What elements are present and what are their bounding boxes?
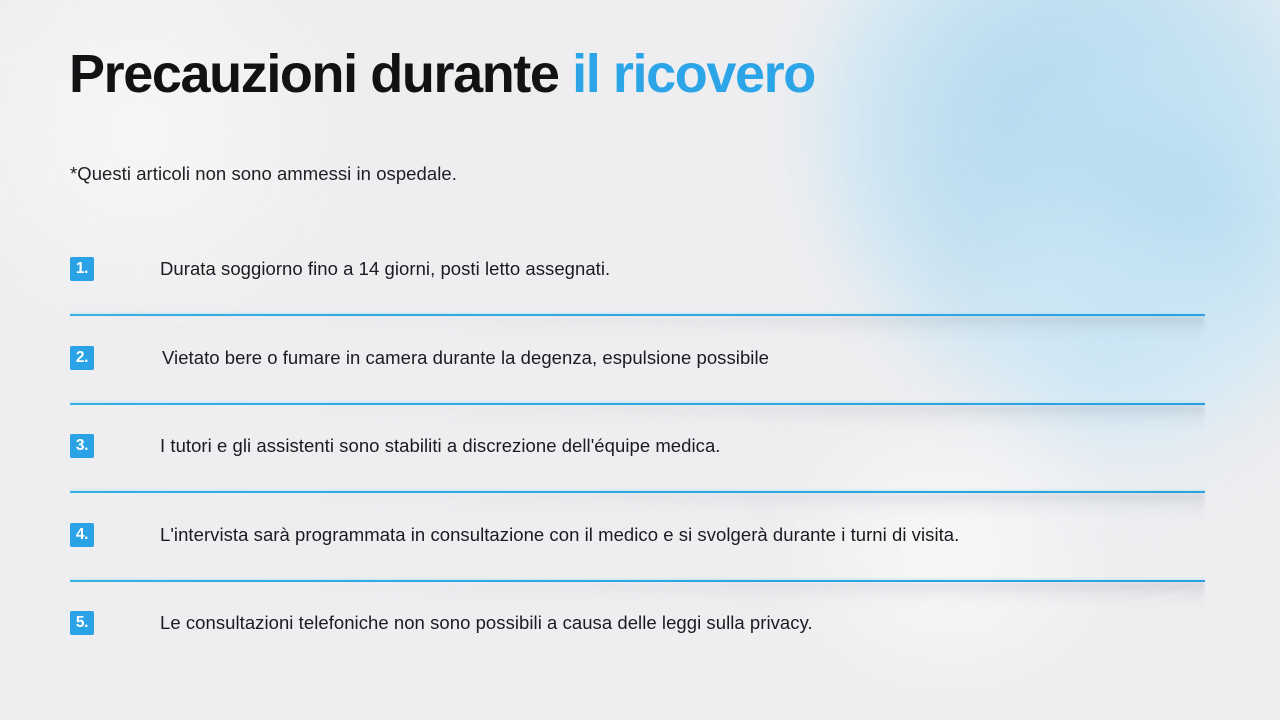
slide-subtitle: *Questi articoli non sono ammessi in osp…: [70, 163, 457, 185]
list-item-label: Durata soggiorno fino a 14 giorni, posti…: [160, 257, 610, 281]
list-item: 5. Le consultazioni telefoniche non sono…: [0, 598, 1280, 687]
slide-content: Precauzioni durante il ricovero *Questi …: [0, 0, 1280, 720]
list-divider: [70, 580, 1205, 582]
list-divider: [70, 403, 1205, 405]
page-title-accent-text: il ricovero: [572, 44, 815, 104]
page-title: Precauzioni durante il ricovero: [69, 44, 815, 106]
numbered-list: 1. Durata soggiorno fino a 14 giorni, po…: [0, 244, 1280, 687]
list-item-label: L'intervista sarà programmata in consult…: [160, 523, 959, 547]
page-title-lead: Precauzioni durante: [69, 44, 559, 104]
list-divider: [70, 491, 1205, 493]
list-item-number-badge: 2.: [70, 346, 94, 370]
list-item-label: Le consultazioni telefoniche non sono po…: [160, 611, 813, 635]
list-item-label: Vietato bere o fumare in camera durante …: [162, 346, 769, 370]
list-divider: [70, 314, 1205, 316]
list-item-label: I tutori e gli assistenti sono stabiliti…: [160, 434, 720, 458]
list-item-number-badge: 1.: [70, 257, 94, 281]
page-title-accent: il ricovero: [559, 44, 815, 104]
list-item-number-badge: 5.: [70, 611, 94, 635]
slide-canvas: Precauzioni durante il ricovero *Questi …: [0, 0, 1280, 720]
list-item-number-badge: 4.: [70, 523, 94, 547]
list-item-number-badge: 3.: [70, 434, 94, 458]
